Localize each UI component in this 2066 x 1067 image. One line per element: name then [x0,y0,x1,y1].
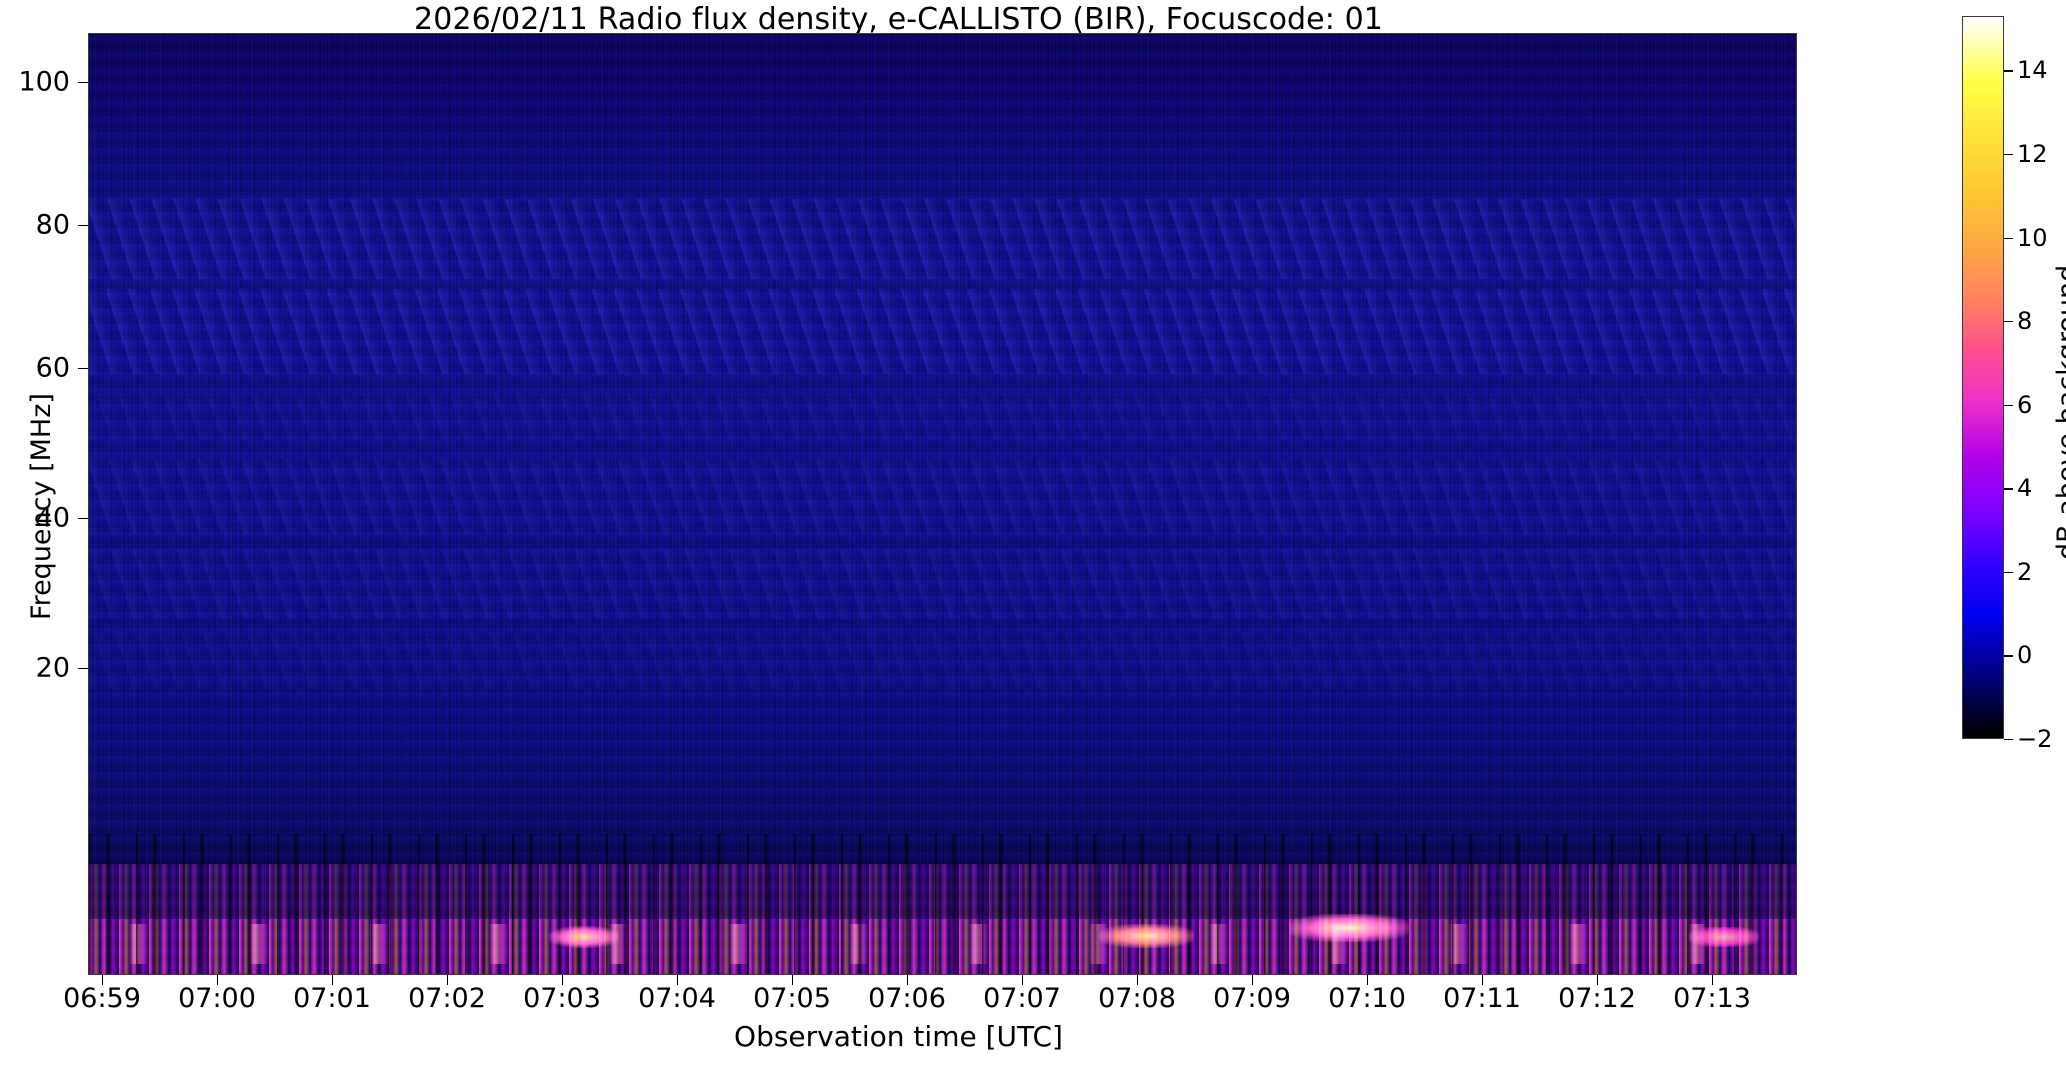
x-tick-label: 07:04 [638,983,716,1014]
colorbar-tick-mark [2004,572,2013,573]
drift-stripe-band-80mhz [89,199,1796,279]
drift-stripe-band-70mhz [89,289,1796,374]
colorbar-tick-label: 2 [2017,558,2032,586]
x-tick-label: 06:59 [63,983,141,1014]
colorbar-tick-label: 14 [2017,56,2048,84]
colorbar-tick-mark [2004,154,2013,155]
colorbar-tick-mark [2004,238,2013,239]
drift-stripe-band-28mhz [89,634,1796,689]
x-tick-label: 07:01 [293,983,371,1014]
spectrogram-plot [88,33,1797,975]
bright-patch-0713 [1689,927,1759,947]
x-tick-label: 07:02 [408,983,486,1014]
x-tick-label: 07:13 [1673,983,1751,1014]
y-tick-label: 40 [0,503,70,534]
x-tick-label: 07:06 [868,983,946,1014]
x-tick-label: 07:00 [178,983,256,1014]
x-tick-label: 07:05 [753,983,831,1014]
spectrogram-image [89,34,1796,974]
x-axis-label: Observation time [UTC] [0,1020,1797,1053]
colorbar-tick-label: 0 [2017,641,2032,669]
bright-patch-0704 [549,926,619,948]
colorbar-tick-label: 4 [2017,474,2032,502]
y-tick-mark [78,518,88,519]
y-tick-mark [78,368,88,369]
colorbar-tick-label: 8 [2017,307,2032,335]
x-tick-label: 07:11 [1443,983,1521,1014]
colorbar-tick-label: −2 [2017,725,2052,753]
colorbar-tick-mark [2004,321,2013,322]
colorbar-tick-mark [2004,405,2013,406]
figure-canvas: 2026/02/11 Radio flux density, e-CALLIST… [0,0,2066,1067]
page-title: 2026/02/11 Radio flux density, e-CALLIST… [0,2,1797,37]
drift-stripe-band-35mhz [89,549,1796,619]
colorbar-tick-label: 10 [2017,224,2048,252]
x-tick-label: 07:12 [1558,983,1636,1014]
x-tick-label: 07:08 [1098,983,1176,1014]
x-tick-label: 07:03 [523,983,601,1014]
drift-stripe-band-57mhz [89,394,1796,439]
colorbar-tick-mark [2004,739,2013,740]
y-tick-label: 80 [0,210,70,241]
colorbar-tick-label: 12 [2017,140,2048,168]
drift-stripe-band-45mhz [89,459,1796,534]
colorbar-tick-mark [2004,70,2013,71]
y-tick-mark [78,82,88,83]
bright-patch-0711 [1289,914,1409,942]
y-tick-label: 60 [0,353,70,384]
colorbar-tick-mark [2004,655,2013,656]
colorbar-tick-mark [2004,488,2013,489]
colorbar-gradient [1963,17,2003,738]
x-tick-label: 07:09 [1213,983,1291,1014]
vertical-interference-spikes [89,834,1796,974]
y-tick-label: 100 [0,67,70,98]
y-tick-mark [78,225,88,226]
y-tick-label: 20 [0,653,70,684]
bright-patch-0709 [1099,924,1194,948]
colorbar-label: dB above background [2052,265,2066,560]
x-tick-label: 07:07 [983,983,1061,1014]
colorbar [1962,16,2004,739]
colorbar-tick-label: 6 [2017,391,2032,419]
y-tick-mark [78,668,88,669]
x-tick-label: 07:10 [1328,983,1406,1014]
